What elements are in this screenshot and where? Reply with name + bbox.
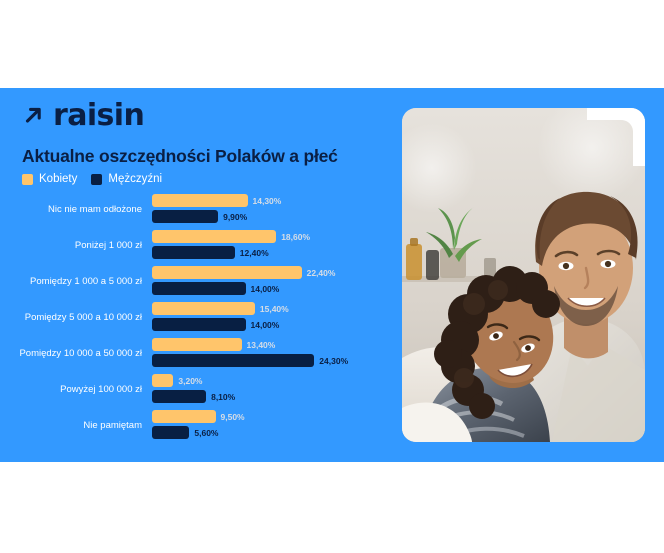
row-bars: 14,30%9,90% bbox=[152, 192, 390, 228]
bar-value-female: 15,40% bbox=[260, 304, 289, 314]
arrow-up-right-icon bbox=[22, 104, 46, 128]
category-label: Powyżej 100 000 zł bbox=[0, 385, 152, 395]
row-bars: 3,20%8,10% bbox=[152, 372, 390, 408]
legend-item-mezczyzni: Mężczyźni bbox=[91, 173, 162, 185]
bar-value-male: 9,90% bbox=[223, 212, 247, 222]
bar-group-female: 22,40% bbox=[152, 266, 335, 279]
bar-male[interactable] bbox=[152, 246, 235, 259]
bar-value-male: 8,10% bbox=[211, 392, 235, 402]
bar-group-female: 15,40% bbox=[152, 302, 289, 315]
bar-female[interactable] bbox=[152, 230, 276, 243]
bar-female[interactable] bbox=[152, 266, 302, 279]
raisin-logo: raisin bbox=[22, 101, 144, 131]
bar-group-male: 8,10% bbox=[152, 390, 235, 403]
bar-group-female: 3,20% bbox=[152, 374, 203, 387]
bar-group-male: 5,60% bbox=[152, 426, 219, 439]
bar-value-male: 14,00% bbox=[251, 284, 280, 294]
legend-swatch-kobiety bbox=[22, 174, 33, 185]
bar-male[interactable] bbox=[152, 354, 314, 367]
bar-value-male: 14,00% bbox=[251, 320, 280, 330]
bar-value-female: 14,30% bbox=[253, 196, 282, 206]
bar-group-female: 14,30% bbox=[152, 194, 281, 207]
screenshot-canvas: raisin Aktualne oszczędności Polaków a p… bbox=[0, 0, 664, 553]
chart-row: Powyżej 100 000 zł3,20%8,10% bbox=[0, 372, 390, 408]
category-label: Poniżej 1 000 zł bbox=[0, 241, 152, 251]
category-label: Pomiędzy 1 000 a 5 000 zł bbox=[0, 277, 152, 287]
bar-value-female: 18,60% bbox=[281, 232, 310, 242]
bar-value-female: 22,40% bbox=[307, 268, 336, 278]
bar-group-male: 14,00% bbox=[152, 318, 279, 331]
chart-row: Pomiędzy 10 000 a 50 000 zł13,40%24,30% bbox=[0, 336, 390, 372]
category-label: Pomiędzy 5 000 a 10 000 zł bbox=[0, 313, 152, 323]
chart-title: Aktualne oszczędności Polaków a płeć bbox=[22, 146, 338, 167]
bar-value-female: 9,50% bbox=[221, 412, 245, 422]
row-bars: 18,60%12,40% bbox=[152, 228, 390, 264]
row-bars: 15,40%14,00% bbox=[152, 300, 390, 336]
bar-group-male: 24,30% bbox=[152, 354, 348, 367]
legend-label-mezczyzni: Mężczyźni bbox=[108, 173, 162, 185]
chart-row: Poniżej 1 000 zł18,60%12,40% bbox=[0, 228, 390, 264]
chart-legend: Kobiety Mężczyźni bbox=[22, 173, 162, 185]
bar-male[interactable] bbox=[152, 318, 246, 331]
bar-female[interactable] bbox=[152, 410, 216, 423]
bar-female[interactable] bbox=[152, 374, 173, 387]
bar-male[interactable] bbox=[152, 282, 246, 295]
chart-row: Pomiędzy 1 000 a 5 000 zł22,40%14,00% bbox=[0, 264, 390, 300]
bar-group-male: 12,40% bbox=[152, 246, 269, 259]
bar-female[interactable] bbox=[152, 338, 242, 351]
bar-chart: Nic nie mam odłożone14,30%9,90%Poniżej 1… bbox=[0, 192, 390, 444]
category-label: Nic nie mam odłożone bbox=[0, 205, 152, 215]
bar-group-male: 9,90% bbox=[152, 210, 247, 223]
photo-illustration bbox=[402, 108, 645, 442]
legend-label-kobiety: Kobiety bbox=[39, 173, 77, 185]
row-bars: 9,50%5,60% bbox=[152, 408, 390, 444]
row-bars: 22,40%14,00% bbox=[152, 264, 390, 300]
bar-group-female: 18,60% bbox=[152, 230, 310, 243]
bar-value-female: 13,40% bbox=[247, 340, 276, 350]
brand-name: raisin bbox=[53, 101, 144, 131]
bar-group-female: 9,50% bbox=[152, 410, 245, 423]
bar-group-male: 14,00% bbox=[152, 282, 279, 295]
bar-female[interactable] bbox=[152, 302, 255, 315]
legend-item-kobiety: Kobiety bbox=[22, 173, 77, 185]
bar-group-female: 13,40% bbox=[152, 338, 275, 351]
bar-value-female: 3,20% bbox=[178, 376, 202, 386]
chart-row: Pomiędzy 5 000 a 10 000 zł15,40%14,00% bbox=[0, 300, 390, 336]
infographic-panel: raisin Aktualne oszczędności Polaków a p… bbox=[0, 88, 664, 462]
bar-value-male: 24,30% bbox=[319, 356, 348, 366]
bar-female[interactable] bbox=[152, 194, 248, 207]
bar-male[interactable] bbox=[152, 426, 189, 439]
bar-value-male: 12,40% bbox=[240, 248, 269, 258]
bar-male[interactable] bbox=[152, 390, 206, 403]
chart-row: Nic nie mam odłożone14,30%9,90% bbox=[0, 192, 390, 228]
chart-row: Nie pamiętam9,50%5,60% bbox=[0, 408, 390, 444]
bar-value-male: 5,60% bbox=[194, 428, 218, 438]
category-label: Nie pamiętam bbox=[0, 421, 152, 431]
legend-swatch-mezczyzni bbox=[91, 174, 102, 185]
bar-male[interactable] bbox=[152, 210, 218, 223]
couple-photo bbox=[402, 108, 645, 442]
row-bars: 13,40%24,30% bbox=[152, 336, 390, 372]
category-label: Pomiędzy 10 000 a 50 000 zł bbox=[0, 349, 152, 359]
